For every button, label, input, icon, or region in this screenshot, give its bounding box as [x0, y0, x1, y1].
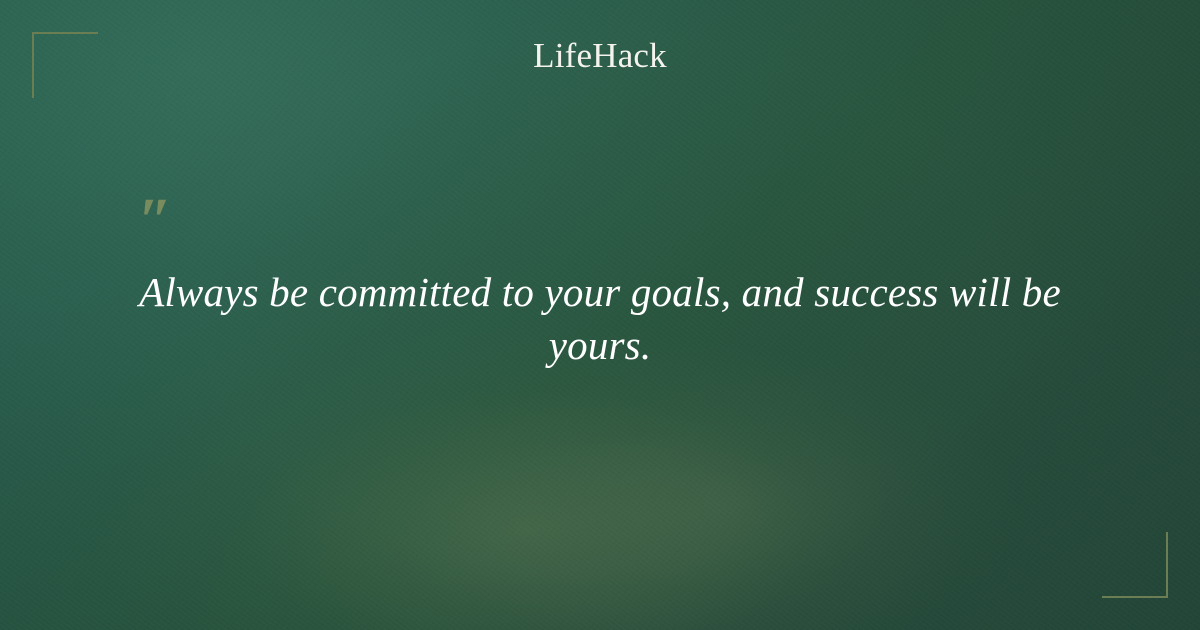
brand-logo: LifeHack — [0, 38, 1200, 73]
corner-bracket-bottom-right-icon — [1102, 532, 1168, 598]
quotation-mark-icon: ″ — [138, 190, 1080, 238]
quote-card: LifeHack ″ Always be committed to your g… — [0, 0, 1200, 630]
quote-text: Always be committed to your goals, and s… — [120, 266, 1080, 373]
quote-block: ″ Always be committed to your goals, and… — [120, 190, 1080, 373]
